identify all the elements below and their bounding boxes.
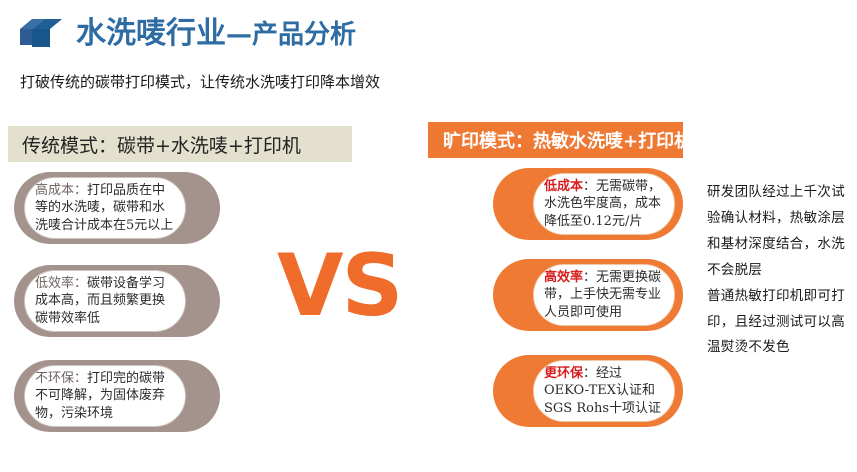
pill-lead: 高效率: [544, 270, 583, 285]
notes-column: 研发团队经过上千次试验确认材料，热敏涂层和基材深度结合，水洗不会脱层 普通热敏打…: [707, 180, 852, 361]
pill-lead: 高成本：: [35, 183, 87, 198]
pill-text: 高效率：无需更换碳带，上手快无需专业人员即可使用: [534, 269, 674, 320]
note-paragraph: 普通热敏打印机即可打印，且经过测试可以高温熨烫不发色: [707, 284, 852, 362]
pill-text: 更环保：经过OEKO-TEX认证和SGS Rohs十项认证: [534, 365, 674, 416]
right-column-header: 旷印模式：热敏水洗唛+打印机: [428, 122, 683, 158]
page-title-main: 水洗唛行业: [76, 16, 226, 51]
list-item: 高效率：无需更换碳带，上手快无需专业人员即可使用: [493, 259, 683, 331]
pill-text: 低效率：碳带设备学习成本高，而且频繁更换碳带效率低: [25, 275, 185, 326]
pill-body: 低成本：无需碳带，水洗色牢度高，成本降低至0.12元/片: [533, 173, 675, 235]
pill-text: 不环保：打印完的碳带不可降解，为固体废弃物，污染环境: [25, 370, 185, 421]
pill-body: 低效率：碳带设备学习成本高，而且频繁更换碳带效率低: [24, 270, 186, 332]
page-subtitle: 打破传统的碳带打印模式，让传统水洗唛打印降本增效: [20, 71, 380, 92]
list-item: 不环保：打印完的碳带不可降解，为固体废弃物，污染环境: [14, 360, 220, 432]
pill-body: 高效率：无需更换碳带，上手快无需专业人员即可使用: [533, 264, 675, 326]
left-column-header: 传统模式：碳带+水洗唛+打印机: [8, 126, 352, 162]
list-item: 低成本：无需碳带，水洗色牢度高，成本降低至0.12元/片: [493, 168, 683, 240]
slide-canvas: 水洗唛行业—产品分析 打破传统的碳带打印模式，让传统水洗唛打印降本增效 传统模式…: [0, 0, 857, 472]
pill-lead: 更环保: [544, 366, 583, 381]
page-title: 水洗唛行业—产品分析: [76, 19, 356, 49]
pill-lead: 低成本: [544, 179, 583, 194]
page-title-row: 水洗唛行业—产品分析: [18, 10, 356, 58]
pill-body: 更环保：经过OEKO-TEX认证和SGS Rohs十项认证: [533, 360, 675, 422]
page-title-sub: —产品分析: [226, 20, 356, 50]
list-item: 高成本：打印品质在中等的水洗唛，碳带和水洗唛合计成本在5元以上: [14, 172, 220, 244]
book-stack-icon: [18, 15, 66, 53]
pill-text: 低成本：无需碳带，水洗色牢度高，成本降低至0.12元/片: [534, 178, 674, 229]
list-item: 更环保：经过OEKO-TEX认证和SGS Rohs十项认证: [493, 355, 683, 427]
pill-body: 不环保：打印完的碳带不可降解，为固体废弃物，污染环境: [24, 365, 186, 427]
note-paragraph: 研发团队经过上千次试验确认材料，热敏涂层和基材深度结合，水洗不会脱层: [707, 180, 852, 284]
pill-body: 高成本：打印品质在中等的水洗唛，碳带和水洗唛合计成本在5元以上: [24, 177, 186, 239]
pill-lead: 不环保：: [35, 371, 87, 386]
pill-lead: 低效率：: [35, 276, 87, 291]
pill-text: 高成本：打印品质在中等的水洗唛，碳带和水洗唛合计成本在5元以上: [25, 182, 185, 233]
list-item: 低效率：碳带设备学习成本高，而且频繁更换碳带效率低: [14, 265, 220, 337]
vs-divider-label: VS: [277, 243, 402, 329]
